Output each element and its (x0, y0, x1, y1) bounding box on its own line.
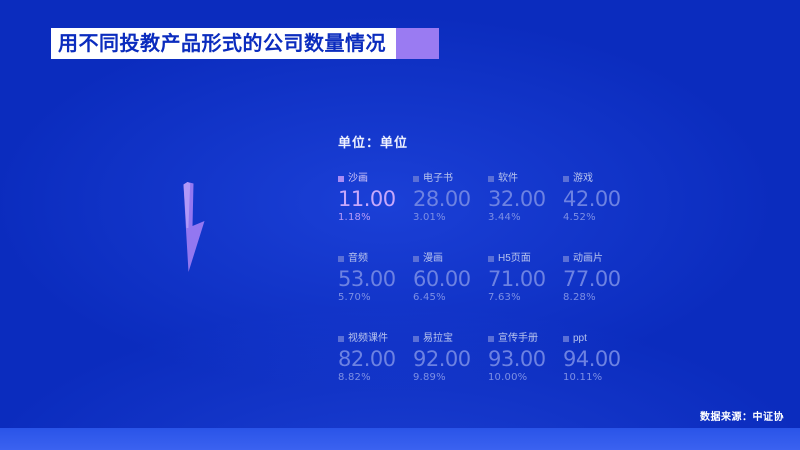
title-plate: 用不同投教产品形式的公司数量情况 (51, 28, 396, 59)
metric-item[interactable]: 电子书28.003.01% (413, 172, 488, 252)
metric-value: 92.00 (413, 348, 488, 370)
metric-item[interactable]: 音频53.005.70% (338, 252, 413, 332)
legend-square-icon (338, 336, 344, 342)
bottom-accent-band (0, 428, 800, 450)
metric-value: 42.00 (563, 188, 638, 210)
metric-item[interactable]: 游戏42.004.52% (563, 172, 638, 252)
legend-square-icon (413, 176, 419, 182)
metric-header: 电子书 (413, 172, 488, 185)
legend-square-icon (563, 176, 569, 182)
metric-percent: 6.45% (413, 293, 488, 303)
metric-percent: 10.11% (563, 373, 638, 383)
legend-square-icon (488, 336, 494, 342)
unit-label: 单位：单位 (338, 132, 408, 151)
metric-value: 28.00 (413, 188, 488, 210)
legend-square-icon (338, 256, 344, 262)
metric-percent: 1.18% (338, 213, 413, 223)
legend-square-icon (563, 336, 569, 342)
metric-percent: 8.28% (563, 293, 638, 303)
metric-item[interactable]: 视频课件82.008.82% (338, 332, 413, 412)
metric-item[interactable]: H5页面71.007.63% (488, 252, 563, 332)
metric-percent: 5.70% (338, 293, 413, 303)
metric-percent: 7.63% (488, 293, 563, 303)
data-source-note: 数据来源：中证协 (700, 408, 784, 423)
metric-label: 宣传手册 (498, 334, 538, 344)
metric-header: 沙画 (338, 172, 413, 185)
metric-item[interactable]: 动画片77.008.28% (563, 252, 638, 332)
metric-percent: 8.82% (338, 373, 413, 383)
metric-value: 94.00 (563, 348, 638, 370)
metric-header: 动画片 (563, 252, 638, 265)
legend-square-icon (563, 256, 569, 262)
metric-header: 软件 (488, 172, 563, 185)
metric-item[interactable]: 易拉宝92.009.89% (413, 332, 488, 412)
legend-square-icon (488, 176, 494, 182)
metric-item[interactable]: ppt94.0010.11% (563, 332, 638, 412)
metric-label: 软件 (498, 174, 518, 184)
lightning-bolt-icon (183, 182, 209, 272)
metric-percent: 3.01% (413, 213, 488, 223)
metric-value: 82.00 (338, 348, 413, 370)
metric-label: H5页面 (498, 254, 531, 264)
metric-label: 视频课件 (348, 334, 388, 344)
metric-label: 游戏 (573, 174, 593, 184)
metric-label: 电子书 (423, 174, 453, 184)
metric-value: 71.00 (488, 268, 563, 290)
legend-square-icon (413, 256, 419, 262)
metric-header: ppt (563, 332, 638, 345)
metric-header: H5页面 (488, 252, 563, 265)
metric-value: 32.00 (488, 188, 563, 210)
metric-percent: 9.89% (413, 373, 488, 383)
metric-header: 宣传手册 (488, 332, 563, 345)
metric-label: 沙画 (348, 174, 368, 184)
metric-label: 动画片 (573, 254, 603, 264)
metric-item[interactable]: 软件32.003.44% (488, 172, 563, 252)
metric-value: 53.00 (338, 268, 413, 290)
metric-header: 音频 (338, 252, 413, 265)
metric-label: 漫画 (423, 254, 443, 264)
metric-item[interactable]: 宣传手册93.0010.00% (488, 332, 563, 412)
metric-label: 易拉宝 (423, 334, 453, 344)
metric-value: 77.00 (563, 268, 638, 290)
metric-value: 60.00 (413, 268, 488, 290)
metric-label: ppt (573, 334, 587, 344)
slide-canvas: 用不同投教产品形式的公司数量情况 单位：单位 沙画11.001.18%电子书28… (0, 0, 800, 450)
title-accent-block (396, 28, 439, 59)
metric-value: 93.00 (488, 348, 563, 370)
metric-header: 游戏 (563, 172, 638, 185)
legend-square-icon (413, 336, 419, 342)
metric-header: 漫画 (413, 252, 488, 265)
metric-value: 11.00 (338, 188, 413, 210)
metric-label: 音频 (348, 254, 368, 264)
metric-header: 视频课件 (338, 332, 413, 345)
legend-square-icon (338, 176, 344, 182)
legend-square-icon (488, 256, 494, 262)
title-bar: 用不同投教产品形式的公司数量情况 (51, 28, 439, 59)
metric-item[interactable]: 漫画60.006.45% (413, 252, 488, 332)
metric-percent: 10.00% (488, 373, 563, 383)
metric-item[interactable]: 沙画11.001.18% (338, 172, 413, 252)
metric-percent: 4.52% (563, 213, 638, 223)
metric-percent: 3.44% (488, 213, 563, 223)
metrics-grid: 沙画11.001.18%电子书28.003.01%软件32.003.44%游戏4… (338, 172, 638, 412)
page-title: 用不同投教产品形式的公司数量情况 (58, 34, 386, 54)
metric-header: 易拉宝 (413, 332, 488, 345)
